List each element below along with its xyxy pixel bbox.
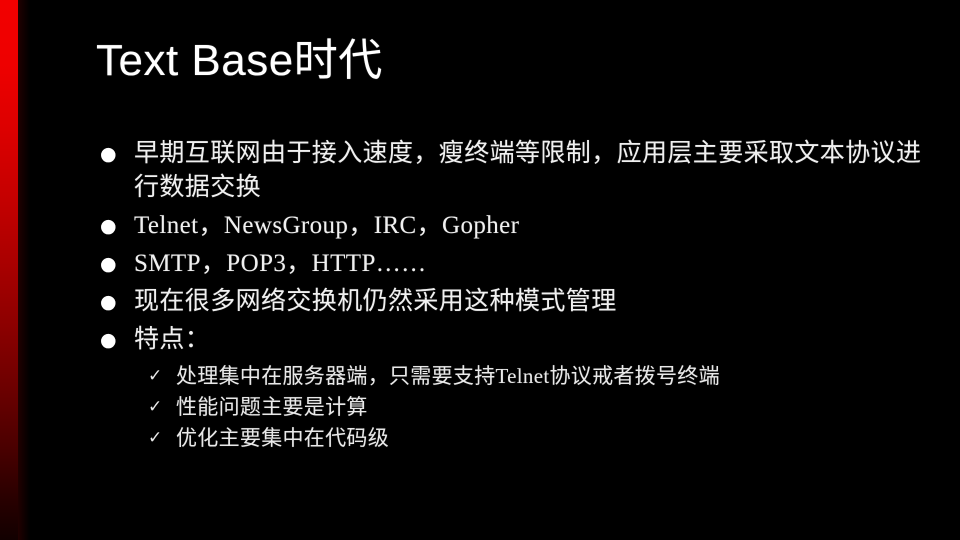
sub-bullet-text: 性能问题主要是计算 <box>176 392 930 422</box>
sub-bullet-item: ✓ 性能问题主要是计算 <box>148 392 930 422</box>
bullet-text: 早期互联网由于接入速度，瘦终端等限制，应用层主要采取文本协议进行数据交换 <box>134 137 930 205</box>
bullet-item: ● SMTP，POP3，HTTP…… <box>100 247 930 281</box>
bullet-dot-icon: ● <box>100 137 134 171</box>
bullet-dot-icon: ● <box>100 323 134 357</box>
sub-bullet-list: ✓ 处理集中在服务器端，只需要支持Telnet协议戒者拨号终端 ✓ 性能问题主要… <box>148 361 930 453</box>
bullet-item: ● 特点： <box>100 323 930 357</box>
bullet-item: ● 早期互联网由于接入速度，瘦终端等限制，应用层主要采取文本协议进行数据交换 <box>100 137 930 205</box>
bullet-dot-icon: ● <box>100 285 134 319</box>
slide-title: Text Base时代 <box>96 36 383 87</box>
presentation-slide: Text Base时代 ● 早期互联网由于接入速度，瘦终端等限制，应用层主要采取… <box>0 0 960 540</box>
bullet-item: ● 现在很多网络交换机仍然采用这种模式管理 <box>100 285 930 319</box>
bullet-text: 现在很多网络交换机仍然采用这种模式管理 <box>134 285 930 319</box>
sub-bullet-text: 处理集中在服务器端，只需要支持Telnet协议戒者拨号终端 <box>176 361 930 391</box>
bullet-dot-icon: ● <box>100 209 134 243</box>
checkmark-icon: ✓ <box>148 392 176 422</box>
bullet-item: ● Telnet，NewsGroup，IRC，Gopher <box>100 209 930 243</box>
bullet-dot-icon: ● <box>100 247 134 281</box>
sub-bullet-text: 优化主要集中在代码级 <box>176 423 930 453</box>
bullet-text: SMTP，POP3，HTTP…… <box>134 247 930 281</box>
bullet-text: 特点： <box>134 323 930 357</box>
sub-bullet-item: ✓ 优化主要集中在代码级 <box>148 423 930 453</box>
checkmark-icon: ✓ <box>148 361 176 391</box>
accent-bar-shadow <box>18 0 30 540</box>
bullet-text: Telnet，NewsGroup，IRC，Gopher <box>134 209 930 243</box>
checkmark-icon: ✓ <box>148 423 176 453</box>
left-accent-bar <box>0 0 18 540</box>
slide-body: ● 早期互联网由于接入速度，瘦终端等限制，应用层主要采取文本协议进行数据交换 ●… <box>100 137 930 454</box>
sub-bullet-item: ✓ 处理集中在服务器端，只需要支持Telnet协议戒者拨号终端 <box>148 361 930 391</box>
